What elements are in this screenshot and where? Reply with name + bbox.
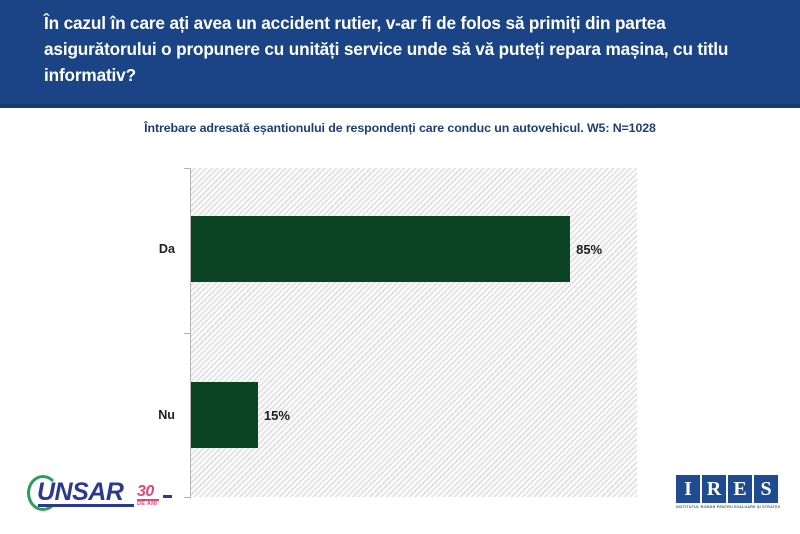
ires-tile-e: E	[728, 475, 752, 503]
ires-tile-s: S	[754, 475, 778, 503]
header-band: În cazul în care ați avea un accident ru…	[0, 0, 800, 108]
category-label-da: Da	[115, 242, 175, 256]
axis-tick	[184, 333, 190, 334]
chart-subtitle: Întrebare adresată eșantionului de respo…	[0, 121, 800, 135]
axis-tick	[184, 168, 190, 169]
value-label-da: 85%	[576, 242, 602, 257]
bar-da	[191, 216, 570, 282]
ires-tile-r: R	[702, 475, 726, 503]
unsar-wordmark: UNSAR	[37, 478, 123, 507]
unsar-logo: UNSAR 30 DE ANI	[25, 473, 165, 519]
category-label-nu: Nu	[115, 408, 175, 422]
ires-logo: I R E S INSTITUTUL ROMÂN PENTRU EVALUARE…	[676, 475, 780, 517]
axis-tick	[184, 497, 190, 498]
ires-tagline: INSTITUTUL ROMÂN PENTRU EVALUARE ȘI STRA…	[676, 505, 780, 509]
ires-tile-i: I	[676, 475, 700, 503]
value-label-nu: 15%	[264, 408, 290, 423]
unsar-underline	[38, 504, 134, 507]
unsar-dash-mark	[163, 495, 172, 498]
unsar-anniversary-label: DE ANI	[137, 501, 157, 507]
bar-chart: Da Nu 85% 15%	[125, 160, 685, 505]
ires-letter-tiles: I R E S	[676, 475, 778, 503]
page-title: În cazul în care ați avea un accident ru…	[44, 10, 762, 88]
bar-nu	[191, 382, 258, 448]
